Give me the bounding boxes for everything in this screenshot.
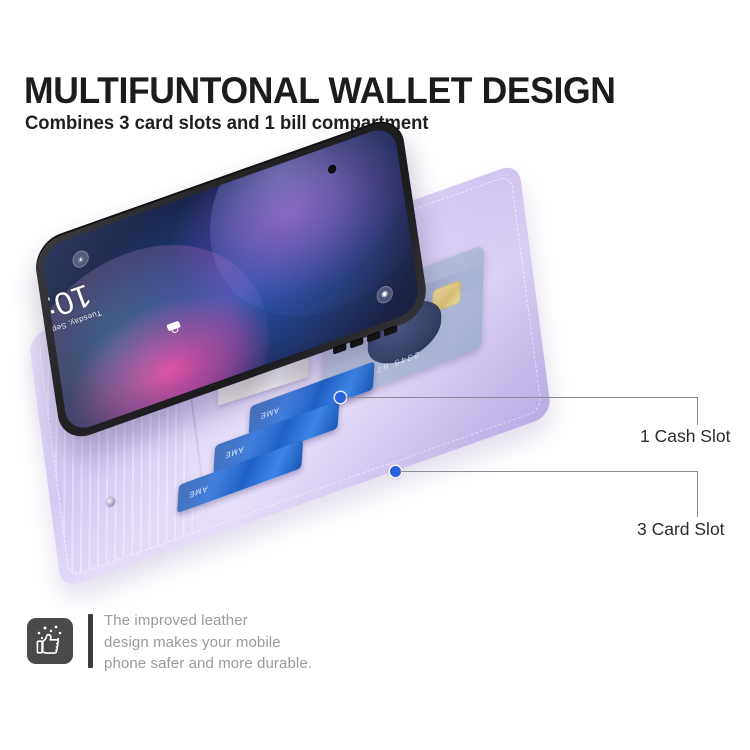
card-tab-label: AME	[259, 405, 279, 421]
callout-leader-card-vertical	[697, 471, 698, 517]
product-photo: 2345 6789 0123 AME AME AME	[0, 150, 750, 580]
callout-label-card-slot: 3 Card Slot	[637, 519, 725, 540]
feature-callout: The improved leather design makes your m…	[0, 600, 750, 710]
feature-line: The improved leather	[104, 610, 312, 632]
feature-divider-bar	[88, 614, 93, 668]
card-tab-label: AME	[188, 484, 208, 500]
callout-label-cash-slot: 1 Cash Slot	[640, 426, 730, 447]
feature-line: design makes your mobile	[104, 632, 312, 654]
card-tab-label: AME	[223, 445, 243, 461]
page-title: MULTIFUNTONAL WALLET DESIGN	[24, 70, 615, 112]
thumbs-up-icon	[27, 618, 73, 664]
product-graphic-root: MULTIFUNTONAL WALLET DESIGN Combines 3 c…	[0, 0, 750, 750]
wallet-assembly: 2345 6789 0123 AME AME AME	[0, 150, 680, 580]
feature-description: The improved leather design makes your m…	[104, 610, 312, 675]
feature-line: phone safer and more durable.	[104, 653, 312, 675]
callout-leader-cash-horizontal	[345, 397, 697, 398]
callout-leader-cash-vertical	[697, 397, 698, 425]
callout-leader-card-horizontal	[400, 471, 697, 472]
